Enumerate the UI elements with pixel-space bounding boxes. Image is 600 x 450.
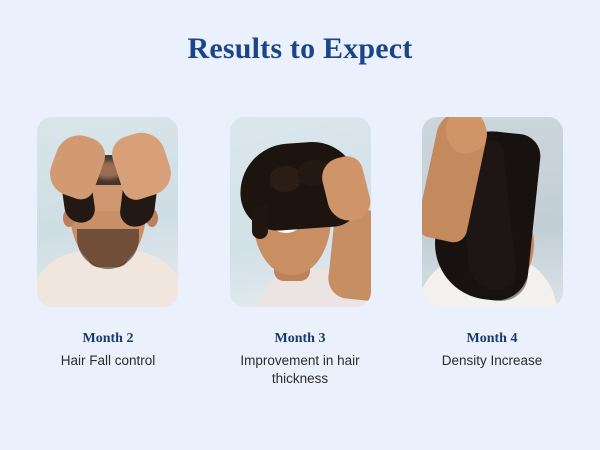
results-caption-row: Month 2 Hair Fall control Month 3 Improv…	[20, 330, 580, 388]
result-image-card-month-3[interactable]	[230, 117, 371, 307]
sideburn-shape	[252, 205, 268, 239]
result-image-card-month-4[interactable]	[422, 117, 563, 307]
month-label: Month 4	[404, 330, 580, 347]
page-title: Results to Expect	[0, 32, 600, 66]
month-description: Improvement in hair thickness	[212, 352, 388, 388]
caption-month-4: Month 4 Density Increase	[404, 330, 580, 388]
photo-month-3	[230, 117, 371, 307]
result-image-card-month-2[interactable]	[37, 117, 178, 307]
caption-month-2: Month 2 Hair Fall control	[20, 330, 196, 388]
results-to-expect-panel: Results to Expect	[0, 0, 600, 450]
photo-month-2	[37, 117, 178, 307]
photo-month-4	[422, 117, 563, 307]
results-card-row	[37, 117, 563, 307]
month-label: Month 3	[212, 330, 388, 347]
month-label: Month 2	[20, 330, 196, 347]
caption-month-3: Month 3 Improvement in hair thickness	[212, 330, 388, 388]
month-description: Hair Fall control	[20, 352, 196, 370]
month-description: Density Increase	[404, 352, 580, 370]
